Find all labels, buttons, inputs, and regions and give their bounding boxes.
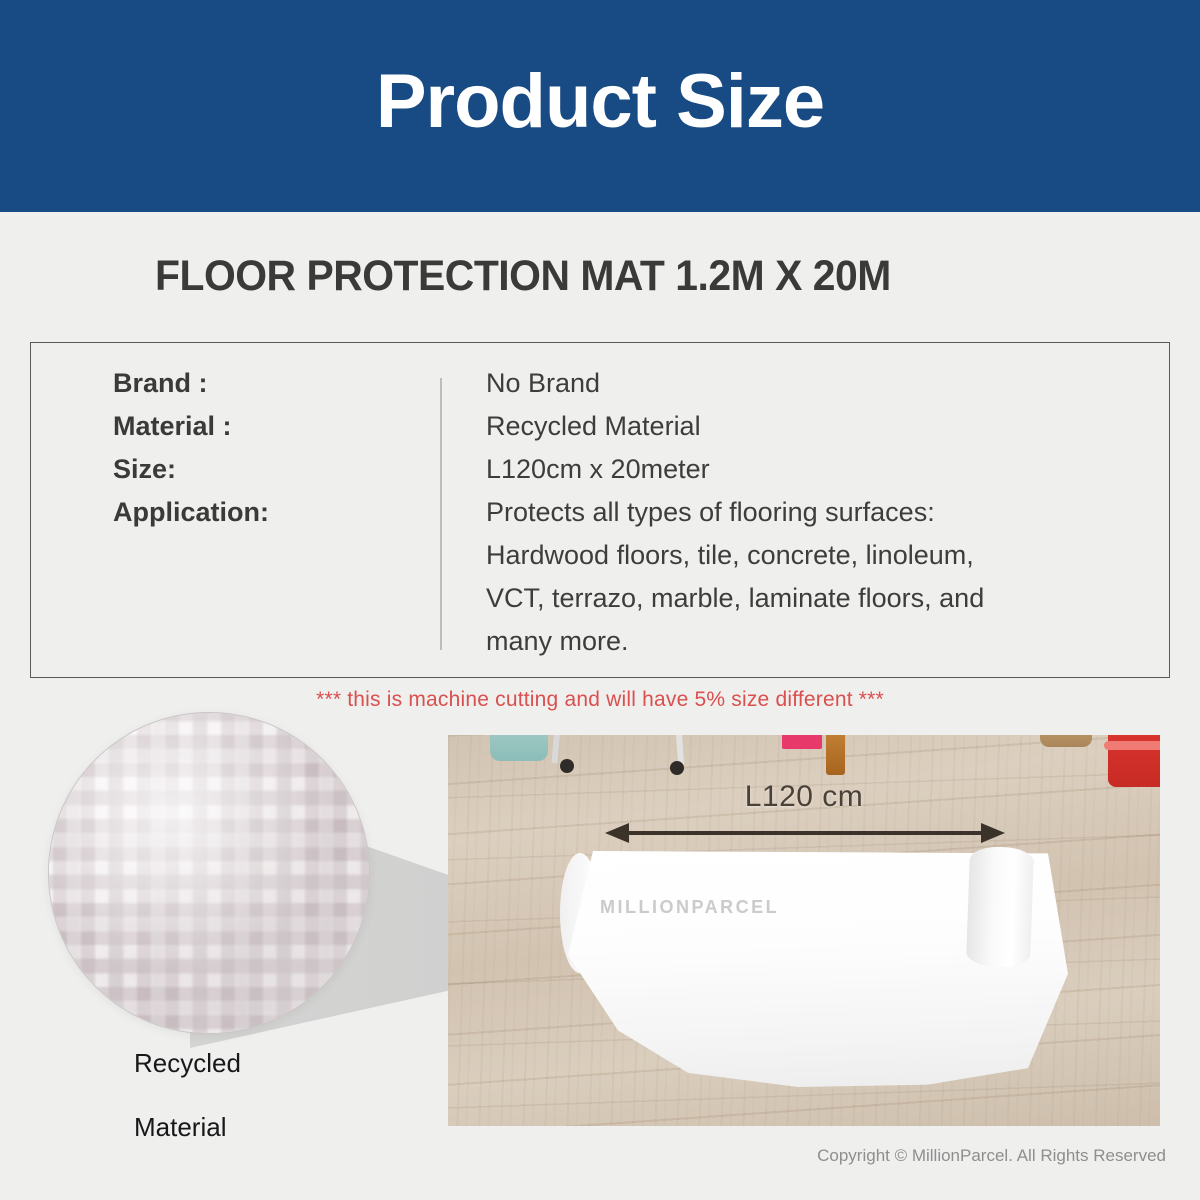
spec-column-divider [440,378,442,650]
product-name-heading: FLOOR PROTECTION MAT 1.2M X 20M [155,252,891,301]
spec-value-application: Protects all types of flooring surfaces: [486,491,1146,534]
spec-value-application-line-4: many more. [486,620,1146,663]
page-title: Product Size [376,64,824,140]
cart-wheel-right [670,761,684,775]
copyright-text: Copyright © MillionParcel. All Rights Re… [817,1146,1166,1166]
basket-object [1040,735,1092,747]
pink-cloth-object [782,735,822,749]
teal-bucket-object [490,735,548,761]
dimension-arrow-icon [605,823,1005,843]
spec-value-size: L120cm x 20meter [486,448,1146,491]
dimension-label: L120 cm [448,780,1160,814]
spec-label-material: Material : [113,405,423,448]
swatch-shading [49,713,369,1033]
swatch-caption-line-1: Recycled [134,1048,241,1079]
material-closeup-circle [48,712,370,1034]
swatch-caption-line-2: Material [134,1112,226,1143]
photo-watermark: MILLIONPARCEL [600,897,779,918]
spec-value-column: No Brand Recycled Material L120cm x 20me… [486,362,1146,663]
page-header-banner: Product Size [0,0,1200,212]
spec-label-column: Brand : Material : Size: Application: [113,362,423,534]
red-bucket-rim [1104,741,1160,750]
spec-value-brand: No Brand [486,362,1146,405]
amber-bottle-object [826,735,845,775]
spec-value-application-line-2: Hardwood floors, tile, concrete, linoleu… [486,534,1146,577]
machine-cutting-note: *** this is machine cutting and will hav… [0,688,1200,712]
spec-value-application-line-3: VCT, terrazo, marble, laminate floors, a… [486,577,1146,620]
spec-label-size: Size: [113,448,423,491]
mat-roll-edge [966,846,1034,968]
product-photo: L120 cm MILLIONPARCEL [448,735,1160,1126]
spec-label-application: Application: [113,491,423,534]
cart-wheel-left [560,759,574,773]
spec-value-material: Recycled Material [486,405,1146,448]
spec-label-brand: Brand : [113,362,423,405]
